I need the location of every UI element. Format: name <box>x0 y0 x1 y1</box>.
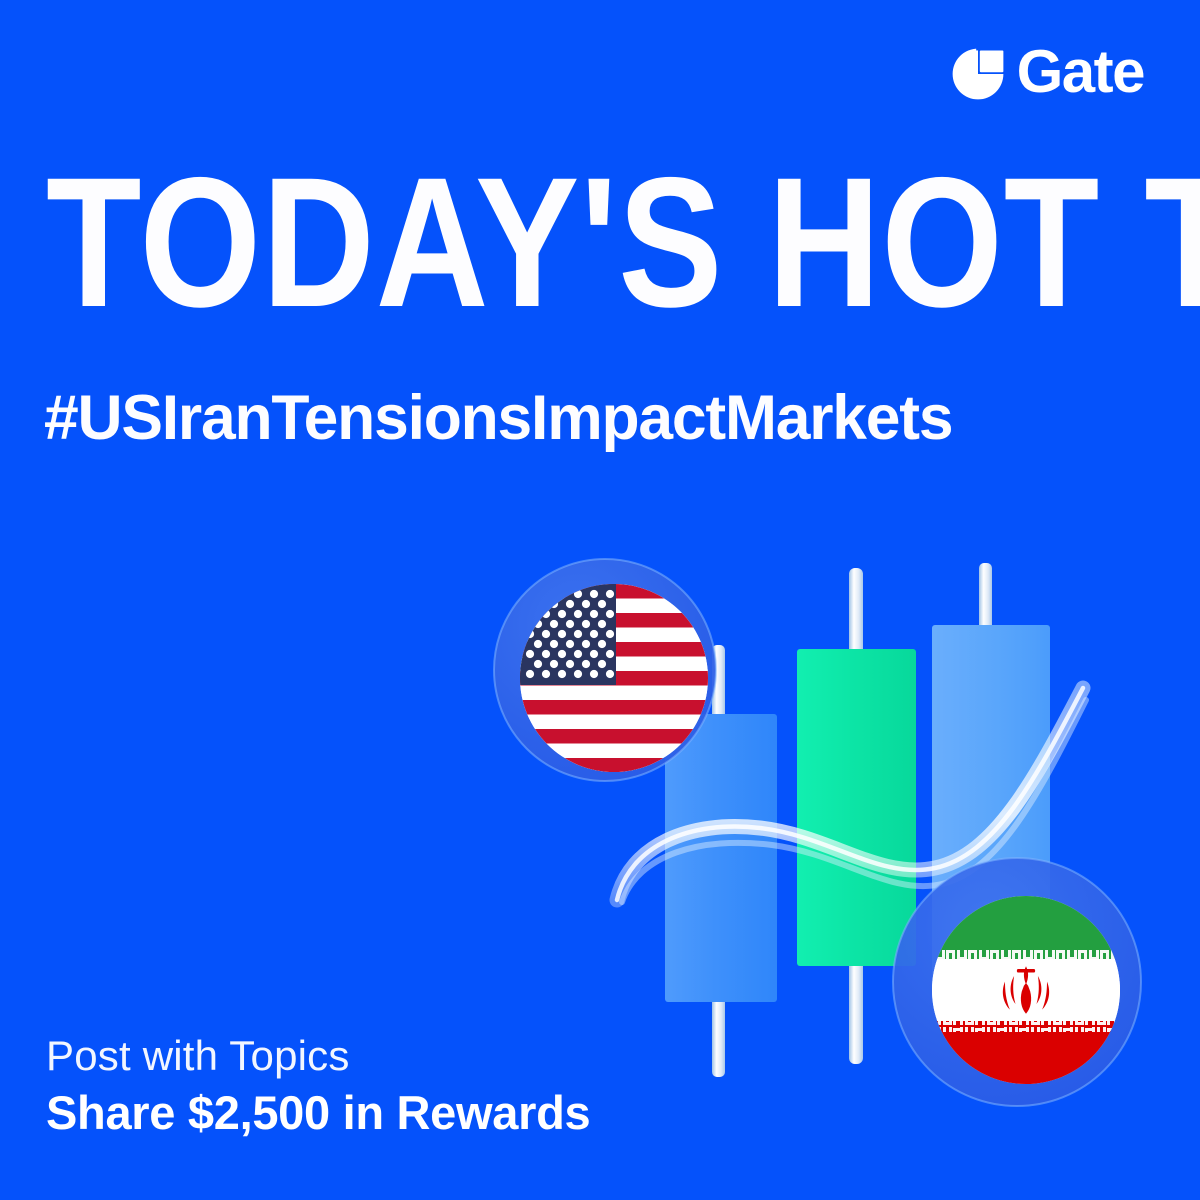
promotional-poster: Gate TODAY'S HOT TOPIC #USIranTensionsIm… <box>0 0 1200 1200</box>
brand-logo[interactable]: Gate <box>949 42 1144 106</box>
us-flag <box>520 584 708 773</box>
iran-flag-badge <box>893 858 1141 1106</box>
page-title: TODAY'S HOT TOPIC <box>46 158 984 328</box>
trend-line <box>617 688 1086 902</box>
candlestick-3 <box>932 563 1050 1023</box>
call-to-action: Post with Topics Share $2,500 in Rewards <box>46 1030 590 1142</box>
candlestick-1 <box>665 645 777 1077</box>
iran-flag <box>932 896 1120 1084</box>
us-flag-badge <box>494 559 716 781</box>
topic-hashtag: #USIranTensionsImpactMarkets <box>44 382 952 454</box>
candlestick-2 <box>797 568 916 1064</box>
cta-instruction: Post with Topics <box>46 1030 590 1082</box>
gate-logo-mark <box>949 45 1007 103</box>
brand-name: Gate <box>1017 42 1144 102</box>
cta-reward: Share $2,500 in Rewards <box>46 1084 590 1142</box>
